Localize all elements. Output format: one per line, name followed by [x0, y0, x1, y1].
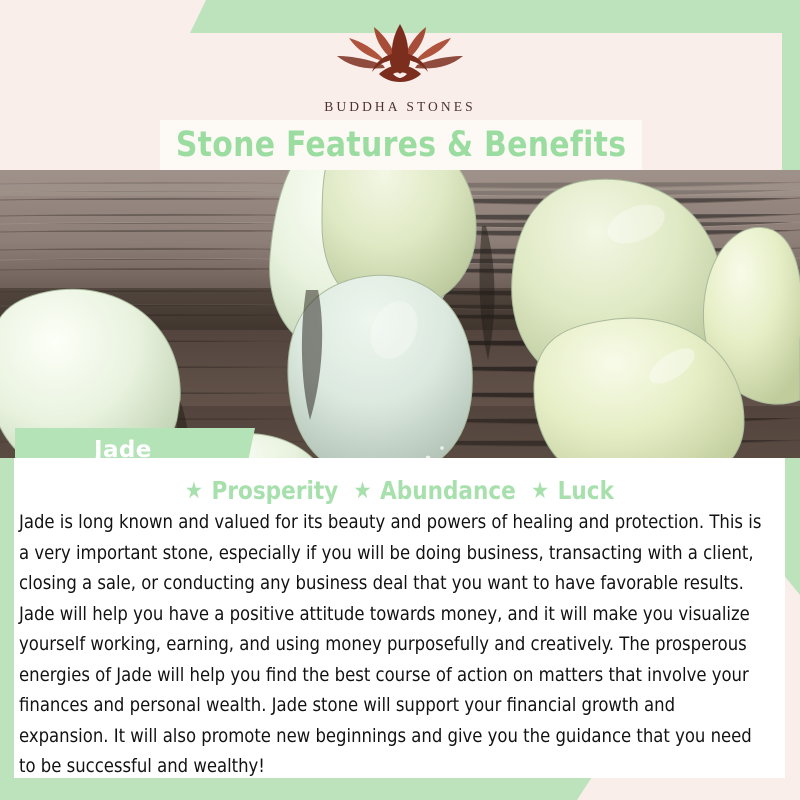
lotus-meditation-icon — [325, 18, 475, 96]
brand-name: BUDDHA STONES — [0, 99, 800, 115]
infographic-page: BUDDHA STONES Stone Features & Benefits — [0, 0, 800, 800]
star-icon: ★ — [185, 478, 203, 504]
jade-stones-photo — [0, 170, 800, 458]
star-icon: ★ — [531, 478, 549, 504]
section-title-banner: Stone Features & Benefits — [160, 120, 642, 170]
decorative-green-strip-left-lower — [0, 452, 14, 800]
page-title: Stone Features & Benefits — [176, 125, 627, 165]
brand-logo: BUDDHA STONES — [0, 18, 800, 115]
photo-graphic — [0, 170, 800, 458]
benefit-item-luck: Luck — [558, 476, 614, 505]
benefit-item-abundance: Abundance — [380, 476, 516, 505]
stone-description-panel: ★Prosperity★Abundance★Luck Jade is long … — [14, 458, 785, 778]
description-paragraph: Jade is long known and valued for its be… — [19, 508, 770, 783]
benefits-list: ★Prosperity★Abundance★Luck — [29, 476, 769, 505]
benefit-item-prosperity: Prosperity — [212, 476, 339, 505]
star-icon: ★ — [354, 478, 372, 504]
